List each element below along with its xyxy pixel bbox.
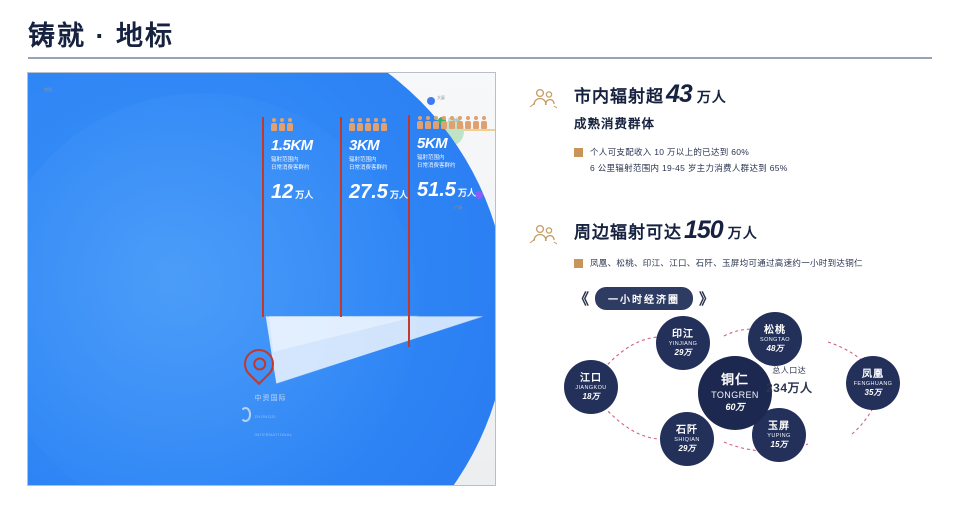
map-pin-icon bbox=[238, 343, 280, 385]
map-poi-label-3: 广场 bbox=[454, 205, 462, 211]
page-title: 铸就 · 地标 bbox=[28, 14, 174, 53]
bullet-square-icon bbox=[574, 148, 583, 157]
city-node-tongren-center[interactable]: 铜仁 TONGREN 60万 bbox=[698, 356, 772, 430]
logo-subtext: ZHONGZI INTERNATIONAL bbox=[254, 414, 292, 437]
city-network-diagram: 江口 JIANGKOU 18万 印江 YINJIANG 29万 松桃 SONGT… bbox=[556, 312, 952, 472]
ring-column-2: 3KM 辐射范围内 日常消费客群约 27.5万人 bbox=[349, 117, 408, 203]
ring-guide-line-1 bbox=[262, 117, 264, 317]
ring-guide-line-2 bbox=[340, 117, 342, 317]
ring-desc-1-line2: 日常消费客群约 bbox=[271, 164, 313, 172]
person-icon bbox=[381, 118, 387, 131]
person-icon bbox=[279, 118, 285, 131]
people-group-icon bbox=[528, 86, 558, 110]
city-population: 35万 bbox=[865, 388, 882, 397]
total-population-value: 234万人 bbox=[766, 379, 813, 396]
block1-heading: 市内辐射超 43 万人 bbox=[574, 80, 948, 109]
ring-people-icons-3 bbox=[417, 115, 487, 129]
bullet-item: 凤凰、松桃、印江、江口、石阡、玉屏均可通过高速约一小时到达铜仁 bbox=[574, 255, 948, 271]
city-node-songtao[interactable]: 松桃 SONGTAO 48万 bbox=[748, 312, 802, 366]
block2-bullets: 凤凰、松桃、印江、江口、石阡、玉屏均可通过高速约一小时到达铜仁 bbox=[574, 255, 948, 271]
person-icon bbox=[357, 118, 363, 131]
person-icon bbox=[457, 116, 463, 129]
city-name-cn: 玉屏 bbox=[768, 421, 790, 433]
block1-heading-pre: 市内辐射超 bbox=[574, 82, 664, 107]
city-population: 29万 bbox=[679, 444, 696, 453]
bullet-text: 6 公里辐射范围内 19-45 岁主力消费人群达到 65% bbox=[590, 160, 788, 176]
city-node-fenghuang[interactable]: 凤凰 FENGHUANG 35万 bbox=[846, 356, 900, 410]
block1-bullets: 个人可支配收入 10 万以上的已达到 60% 6 公里辐射范围内 19-45 岁… bbox=[574, 144, 948, 176]
economic-circle-tagline: 《 一小时经济圈 》 bbox=[574, 287, 948, 310]
bullet-square-icon bbox=[574, 259, 583, 268]
ring-column-1: 1.5KM 辐射范围内 日常消费客群约 12万人 bbox=[271, 117, 313, 203]
ring-people-icons-1 bbox=[271, 117, 313, 131]
city-name-cn: 江口 bbox=[580, 373, 602, 385]
city-population: 60万 bbox=[725, 402, 744, 412]
person-icon bbox=[365, 118, 371, 131]
city-name-en: YUPING bbox=[767, 433, 791, 439]
ring-desc-1-line1: 辐射范围内 bbox=[271, 156, 313, 164]
person-icon bbox=[373, 118, 379, 131]
total-population: 总人口达 234万人 bbox=[766, 365, 813, 396]
bullet-text: 个人可支配收入 10 万以上的已达到 60% bbox=[590, 144, 749, 160]
map-label-corner: 地图 bbox=[44, 87, 52, 93]
city-node-jiangkou[interactable]: 江口 JIANGKOU 18万 bbox=[564, 360, 618, 414]
person-icon bbox=[473, 116, 479, 129]
person-icon bbox=[449, 116, 455, 129]
people-group-icon bbox=[528, 222, 558, 246]
ring-value-3: 51.5 bbox=[417, 180, 456, 200]
ring-desc-2-line1: 辐射范围内 bbox=[349, 156, 408, 164]
block1-subtitle: 成熟消费群体 bbox=[574, 113, 948, 132]
map-poi-dot-2[interactable] bbox=[427, 97, 435, 105]
city-name-cn: 松桃 bbox=[764, 325, 786, 337]
person-icon bbox=[425, 116, 431, 129]
city-population: 15万 bbox=[771, 440, 788, 449]
person-icon bbox=[271, 118, 277, 131]
city-name-en: FENGHUANG bbox=[854, 381, 893, 387]
person-icon bbox=[433, 116, 439, 129]
city-name-en: TONGREN bbox=[711, 390, 759, 400]
person-icon bbox=[465, 116, 471, 129]
ring-distance-2: 3KM bbox=[349, 138, 408, 153]
block2-heading-number: 150 bbox=[684, 216, 723, 245]
ring-distance-3: 5KM bbox=[417, 136, 487, 151]
city-name-en: SONGTAO bbox=[760, 337, 790, 343]
ring-desc-2-line2: 日常消费客群约 bbox=[349, 164, 408, 172]
logo-text: 中资国际 bbox=[254, 395, 286, 402]
city-population: 48万 bbox=[767, 344, 784, 353]
city-node-shiqian[interactable]: 石阡 SHIQIAN 29万 bbox=[660, 412, 714, 466]
ring-value-1: 12 bbox=[271, 182, 293, 202]
logo-mark-icon bbox=[240, 407, 251, 422]
ring-unit-1: 万人 bbox=[295, 190, 313, 200]
city-name-cn: 印江 bbox=[672, 329, 694, 341]
chevron-left-icon: 《 bbox=[574, 288, 589, 309]
person-icon bbox=[287, 118, 293, 131]
location-pin-group[interactable]: 中资国际 ZHONGZI INTERNATIONAL bbox=[244, 349, 274, 379]
block2-heading-unit: 万人 bbox=[728, 223, 758, 243]
project-logo: 中资国际 ZHONGZI INTERNATIONAL bbox=[240, 387, 296, 441]
ring-unit-2: 万人 bbox=[390, 190, 408, 200]
map-panel[interactable]: 地图 产业园 大厦 广场 1.5KM 辐射范围内 日常消费客群约 12万人 3K… bbox=[27, 72, 496, 486]
bullet-item: 6 公里辐射范围内 19-45 岁主力消费人群达到 65% bbox=[590, 160, 948, 176]
title-divider bbox=[28, 57, 932, 59]
person-icon bbox=[417, 116, 423, 129]
total-population-label: 总人口达 bbox=[766, 365, 813, 376]
ring-guide-line-3 bbox=[408, 115, 410, 347]
city-population: 18万 bbox=[583, 392, 600, 401]
ring-distance-1: 1.5KM bbox=[271, 138, 313, 153]
chevron-right-icon: 》 bbox=[699, 288, 714, 309]
info-block-region: 周边辐射可达 150 万人 凤凰、松桃、印江、江口、石阡、玉屏均可通过高速约一小… bbox=[528, 216, 948, 310]
info-panel: 市内辐射超 43 万人 成熟消费群体 个人可支配收入 10 万以上的已达到 60… bbox=[528, 80, 948, 310]
person-icon bbox=[481, 116, 487, 129]
bullet-text: 凤凰、松桃、印江、江口、石阡、玉屏均可通过高速约一小时到达铜仁 bbox=[590, 255, 863, 271]
person-icon bbox=[349, 118, 355, 131]
city-name-cn: 凤凰 bbox=[862, 369, 884, 381]
bullet-item: 个人可支配收入 10 万以上的已达到 60% bbox=[574, 144, 948, 160]
block1-heading-number: 43 bbox=[666, 80, 692, 109]
city-population: 29万 bbox=[675, 348, 692, 357]
info-block-city: 市内辐射超 43 万人 成熟消费群体 个人可支配收入 10 万以上的已达到 60… bbox=[528, 80, 948, 176]
ring-desc-3-line1: 辐射范围内 bbox=[417, 154, 487, 162]
ring-unit-3: 万人 bbox=[458, 188, 476, 198]
ring-people-icons-2 bbox=[349, 117, 408, 131]
city-name-en: SHIQIAN bbox=[674, 437, 699, 443]
city-name-en: YINJIANG bbox=[669, 341, 698, 347]
block2-heading: 周边辐射可达 150 万人 bbox=[574, 216, 948, 245]
city-node-yinjiang[interactable]: 印江 YINJIANG 29万 bbox=[656, 316, 710, 370]
city-name-cn: 石阡 bbox=[676, 425, 698, 437]
ring-desc-3-line2: 日常消费客群约 bbox=[417, 162, 487, 170]
ring-column-3: 5KM 辐射范围内 日常消费客群约 51.5万人 bbox=[417, 115, 487, 201]
ring-value-2: 27.5 bbox=[349, 182, 388, 202]
block2-heading-pre: 周边辐射可达 bbox=[574, 218, 682, 243]
person-icon bbox=[441, 116, 447, 129]
block1-heading-unit: 万人 bbox=[697, 87, 727, 107]
economic-circle-tag[interactable]: 一小时经济圈 bbox=[595, 287, 693, 310]
city-name-cn: 铜仁 bbox=[721, 373, 749, 388]
city-name-en: JIANGKOU bbox=[575, 385, 606, 391]
map-poi-label-2: 大厦 bbox=[437, 95, 445, 101]
